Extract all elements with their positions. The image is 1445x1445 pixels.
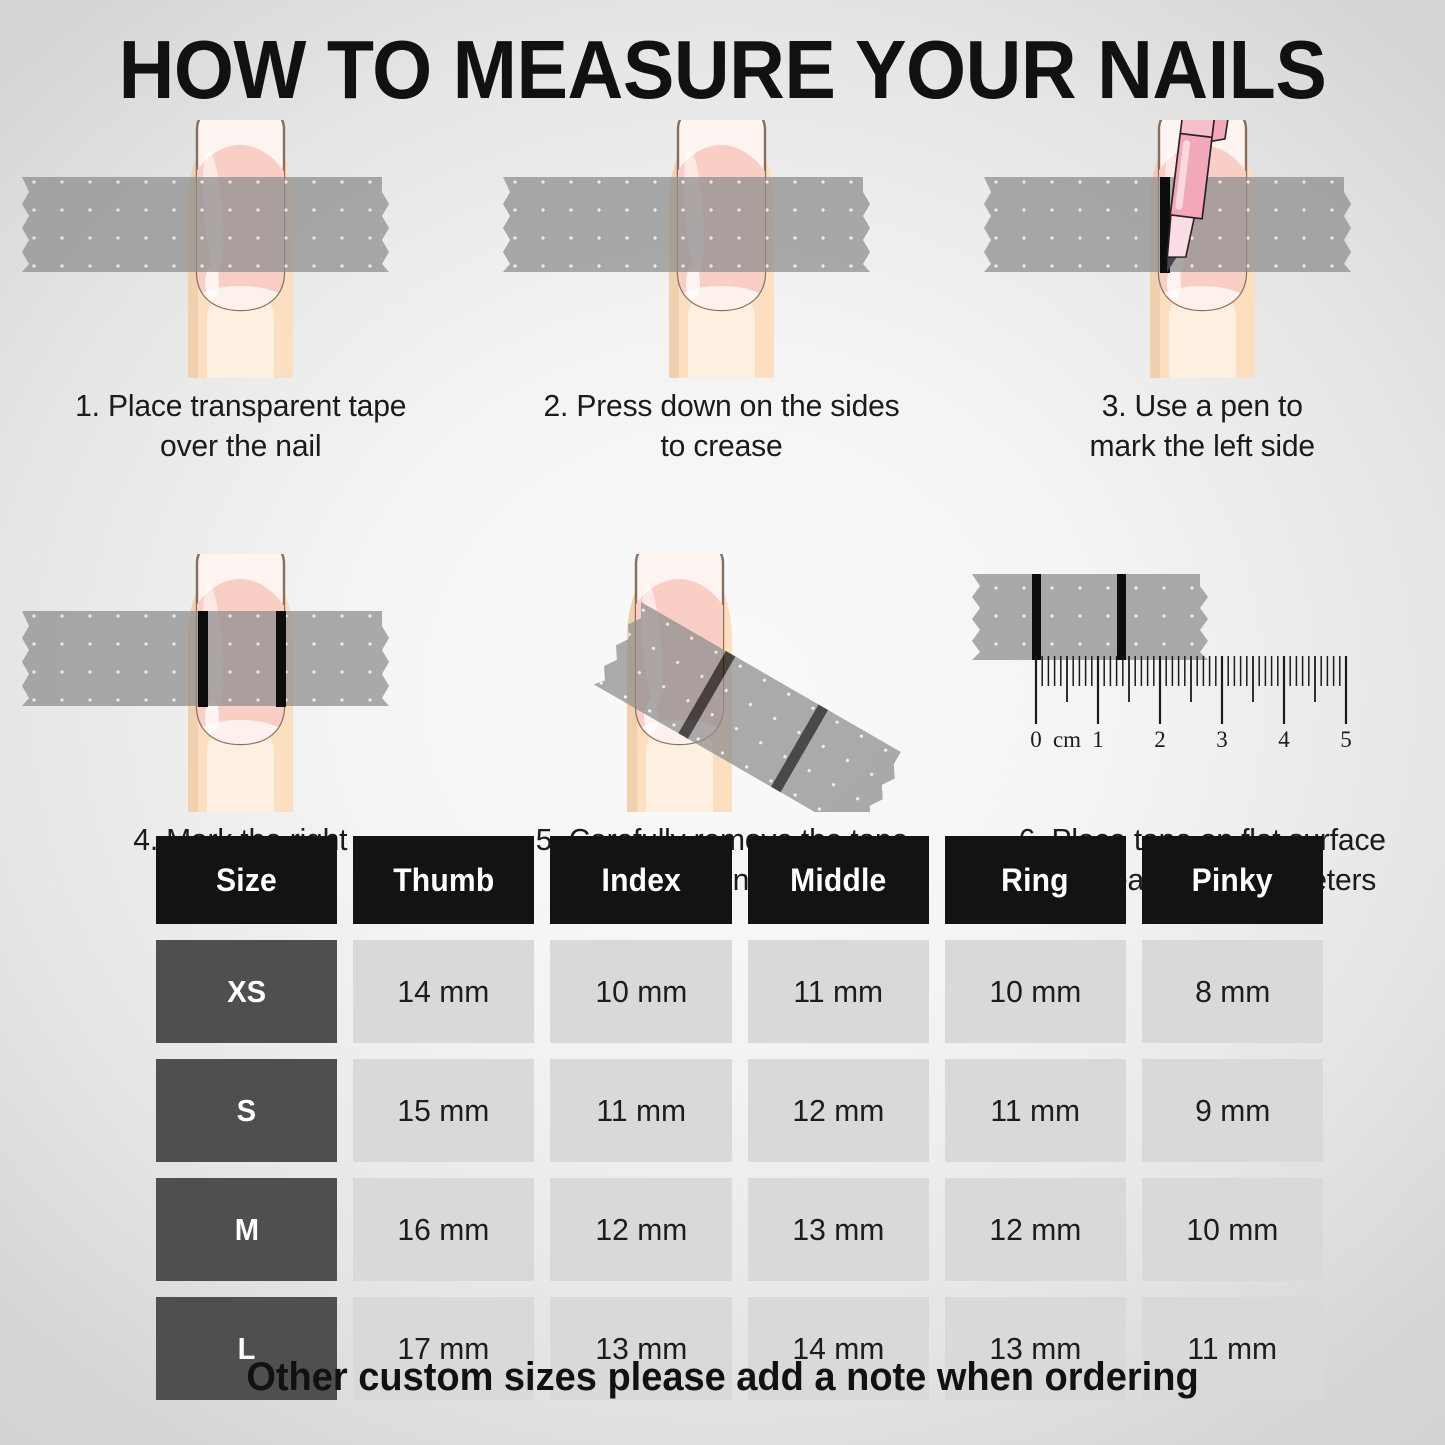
pen-mark-left — [1032, 574, 1041, 660]
table-cell-s-middle: 12 mm — [748, 1059, 929, 1162]
step-1-caption-line1: 1. Place transparent tape — [75, 386, 406, 426]
step-3-illustration — [962, 120, 1443, 378]
steps-row-1: 1. Place transparent tape over the nail — [0, 120, 1445, 466]
table-cell-m-ring: 12 mm — [945, 1178, 1126, 1281]
ruler-tick-4: 4 — [1278, 727, 1290, 752]
table-header-ring: Ring — [945, 836, 1126, 924]
pen-mark-right — [1117, 574, 1126, 660]
step-1-illustration — [0, 120, 481, 378]
step-1: 1. Place transparent tape over the nail — [0, 120, 481, 466]
tape-strip — [22, 177, 389, 272]
step-2-caption: 2. Press down on the sides to crease — [543, 386, 899, 466]
steps-section: 1. Place transparent tape over the nail — [0, 120, 1445, 900]
page-title: HOW TO MEASURE YOUR NAILS — [51, 22, 1395, 118]
step-4-illustration — [0, 554, 481, 812]
table-header-thumb-label: Thumb — [393, 862, 494, 899]
ruler-tick-5: 5 — [1340, 727, 1352, 752]
ruler-tick-0: 0 — [1030, 727, 1042, 752]
footer-note: Other custom sizes please add a note whe… — [36, 1355, 1409, 1400]
table-cell-xs-pinky: 8 mm — [1142, 940, 1323, 1043]
step-1-caption: 1. Place transparent tape over the nail — [75, 386, 406, 466]
step-3-caption: 3. Use a pen to mark the left side — [1090, 386, 1315, 466]
ruler-labels: 0 cm 1 2 3 4 5 — [1030, 727, 1352, 752]
table-cell-m-middle: 13 mm — [748, 1178, 929, 1281]
step-2-caption-line1: 2. Press down on the sides — [543, 386, 899, 426]
ruler-tick-2: 2 — [1154, 727, 1166, 752]
table-header-index-label: Index — [601, 862, 681, 899]
table-header-thumb: Thumb — [353, 836, 534, 924]
table-cell-xs-ring: 10 mm — [945, 940, 1126, 1043]
step-2-illustration — [481, 120, 962, 378]
table-header-middle: Middle — [748, 836, 929, 924]
step-3: 3. Use a pen to mark the left side — [962, 120, 1443, 466]
infographic-poster: HOW TO MEASURE YOUR NAILS — [0, 0, 1445, 1445]
table-header-size: Size — [156, 836, 337, 924]
table-cell-xs-thumb: 14 mm — [353, 940, 534, 1043]
pen-mark-left — [198, 611, 208, 707]
size-chart-table: Size Thumb Index Middle Ring Pinky XS 14… — [156, 836, 1323, 1416]
step-6-illustration: 0 cm 1 2 3 4 5 — [962, 554, 1443, 812]
table-cell-m-index: 12 mm — [550, 1178, 731, 1281]
table-cell-s-thumb: 15 mm — [353, 1059, 534, 1162]
tape-strip — [972, 574, 1208, 660]
tape-strip — [503, 177, 870, 272]
table-header-middle-label: Middle — [790, 862, 886, 899]
ruler — [1036, 656, 1346, 724]
table-size-label-xs: XS — [156, 940, 337, 1043]
table-size-label-m: M — [156, 1178, 337, 1281]
ruler-unit-label: cm — [1053, 727, 1081, 752]
table-header-index: Index — [550, 836, 731, 924]
ruler-tick-3: 3 — [1216, 727, 1228, 752]
table-cell-s-index: 11 mm — [550, 1059, 731, 1162]
step-1-caption-line2: over the nail — [75, 426, 406, 466]
table-cell-xs-index: 10 mm — [550, 940, 731, 1043]
table-row: XS 14 mm 10 mm 11 mm 10 mm 8 mm — [156, 940, 1323, 1043]
table-header-size-label: Size — [216, 862, 277, 899]
table-row: M 16 mm 12 mm 13 mm 12 mm 10 mm — [156, 1178, 1323, 1281]
step-2-caption-line2: to crease — [543, 426, 899, 466]
table-header-pinky: Pinky — [1142, 836, 1323, 924]
table-header-ring-label: Ring — [1001, 862, 1069, 899]
table-cell-s-ring: 11 mm — [945, 1059, 1126, 1162]
table-cell-xs-middle: 11 mm — [748, 940, 929, 1043]
table-size-label-s: S — [156, 1059, 337, 1162]
pen-mark-right — [276, 611, 286, 707]
step-3-caption-line1: 3. Use a pen to — [1090, 386, 1315, 426]
table-cell-m-pinky: 10 mm — [1142, 1178, 1323, 1281]
ruler-tick-1: 1 — [1092, 727, 1104, 752]
table-row: S 15 mm 11 mm 12 mm 11 mm 9 mm — [156, 1059, 1323, 1162]
table-header-row: Size Thumb Index Middle Ring Pinky — [156, 836, 1323, 924]
step-5-illustration — [481, 554, 962, 812]
table-cell-s-pinky: 9 mm — [1142, 1059, 1323, 1162]
step-2: 2. Press down on the sides to crease — [481, 120, 962, 466]
table-header-pinky-label: Pinky — [1192, 862, 1273, 899]
table-cell-m-thumb: 16 mm — [353, 1178, 534, 1281]
step-3-caption-line2: mark the left side — [1090, 426, 1315, 466]
